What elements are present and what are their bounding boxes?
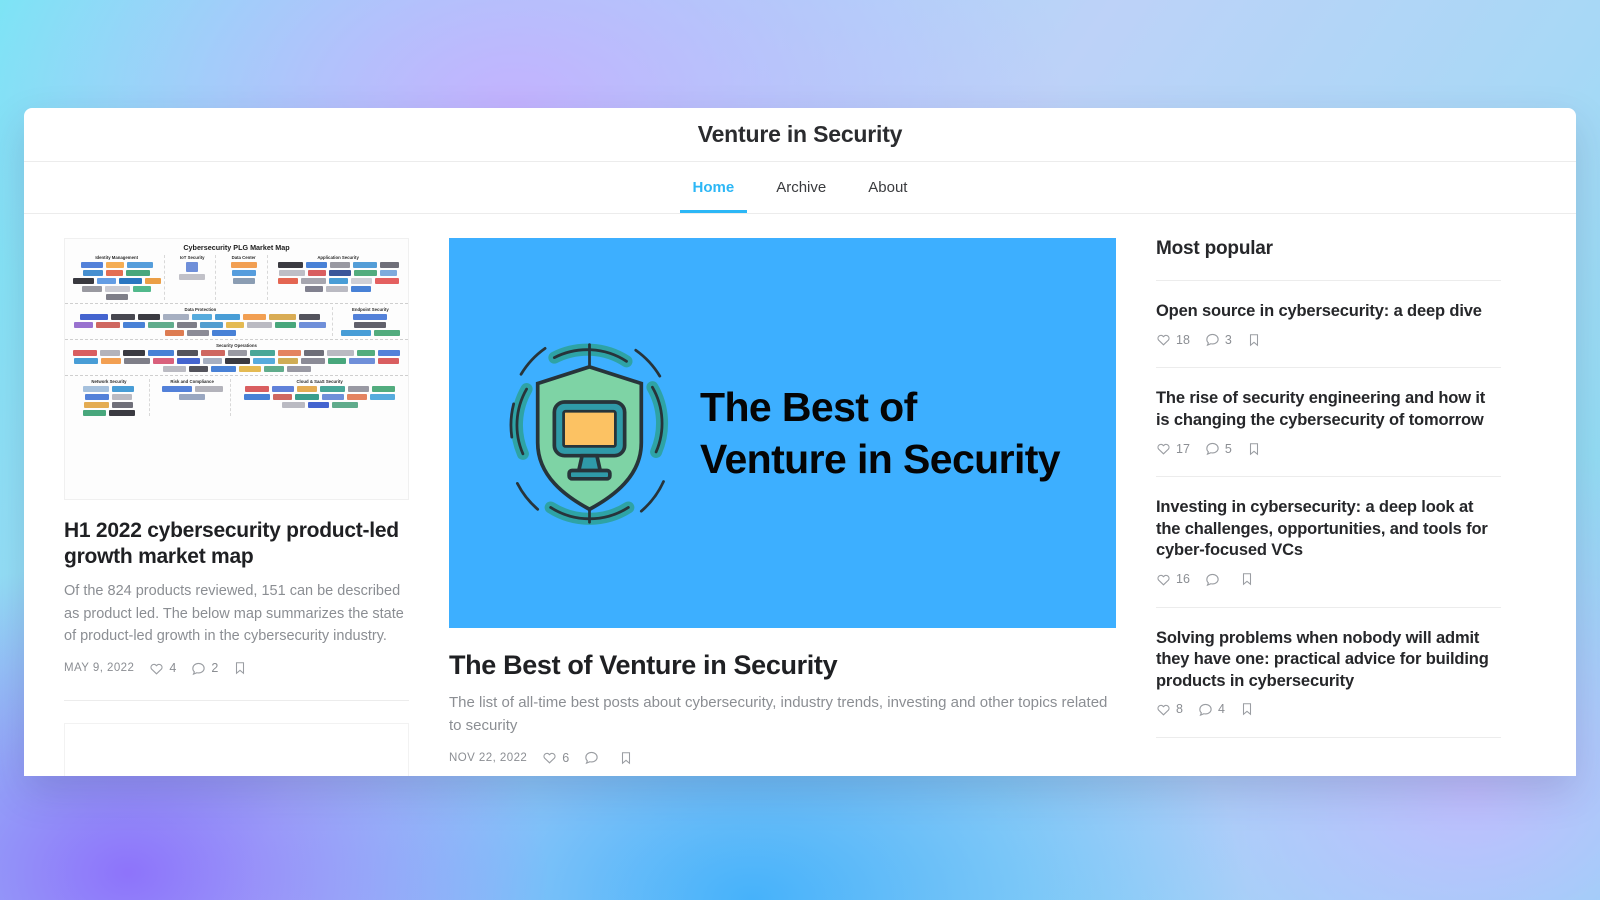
comment-control[interactable]: 2 — [191, 661, 218, 676]
heart-icon — [542, 750, 557, 765]
map-chip-group — [72, 314, 329, 336]
like-count: 16 — [1176, 572, 1190, 586]
map-band-top: Identity Management — [65, 255, 408, 303]
sidebar-post-3[interactable]: Investing in cybersecurity: a deep look … — [1156, 497, 1501, 586]
map-section-network-security: Network Security — [69, 379, 150, 416]
monitor-base — [569, 470, 610, 478]
like-count: 18 — [1176, 333, 1190, 347]
left-article-date: MAY 9, 2022 — [64, 662, 134, 674]
map-section-application-security: Application Security — [272, 255, 404, 300]
main-column: The Best of Venture in Security The Best… — [449, 238, 1116, 775]
map-section-label: Security Operations — [69, 343, 404, 348]
map-section-label: Application Security — [275, 255, 401, 260]
map-band-security-operations: Security Operations — [65, 339, 408, 375]
left-article-title[interactable]: H1 2022 cybersecurity product-led growth… — [64, 518, 409, 569]
nav-item-about[interactable]: About — [855, 162, 920, 213]
main-article-title[interactable]: The Best of Venture in Security — [449, 650, 1116, 681]
heart-icon — [1156, 572, 1171, 587]
map-section-data-protection: Data Protection — [69, 307, 333, 336]
map-section-label: Data Center — [223, 255, 264, 260]
heart-icon — [1156, 441, 1171, 456]
map-section-label: Data Protection — [72, 307, 329, 312]
sidebar-post-title[interactable]: Solving problems when nobody will admit … — [1156, 628, 1501, 692]
map-chip-group — [72, 386, 146, 416]
second-article-thumbnail[interactable]: Vendors leading the new approach to cybe… — [64, 723, 409, 776]
sidebar-divider — [1156, 737, 1501, 738]
map-chip-group — [157, 386, 227, 400]
left-article-subtitle: Of the 824 products reviewed, 151 can be… — [64, 580, 409, 647]
sidebar-divider — [1156, 367, 1501, 368]
nav-item-archive-label: Archive — [776, 179, 826, 196]
left-article-meta: MAY 9, 2022 4 2 — [64, 661, 409, 676]
monitor-screen — [564, 411, 616, 446]
sidebar-most-popular: Most popular Open source in cybersecurit… — [1156, 238, 1501, 775]
map-chip-group — [172, 262, 212, 280]
map-section-label: Network Security — [72, 379, 146, 384]
sidebar-post-meta: 17 5 — [1156, 441, 1501, 456]
like-count: 6 — [562, 751, 569, 765]
comment-icon — [1205, 332, 1220, 347]
left-column: Cybersecurity PLG Market Map Identity Ma… — [64, 238, 409, 775]
content-area: Cybersecurity PLG Market Map Identity Ma… — [24, 214, 1576, 775]
comment-control[interactable]: 3 — [1205, 332, 1232, 347]
hero-text: The Best of Venture in Security — [700, 381, 1060, 486]
map-section-cloud-saas-security: Cloud & SaaS Security — [235, 379, 404, 416]
comment-count: 3 — [1225, 333, 1232, 347]
comment-icon — [584, 750, 599, 765]
hero-image[interactable]: The Best of Venture in Security — [449, 238, 1116, 628]
nav-item-archive[interactable]: Archive — [763, 162, 839, 213]
like-count: 17 — [1176, 442, 1190, 456]
comment-control[interactable] — [584, 750, 604, 765]
map-section-label: Risk and Compliance — [157, 379, 227, 384]
sidebar-divider — [1156, 607, 1501, 608]
comment-count: 2 — [211, 661, 218, 675]
comment-icon — [1205, 441, 1220, 456]
main-article-subtitle: The list of all-time best posts about cy… — [449, 692, 1116, 737]
bookmark-control[interactable] — [619, 751, 633, 765]
main-article-meta: NOV 22, 2022 6 — [449, 750, 1116, 765]
sidebar-heading: Most popular — [1156, 238, 1501, 260]
map-section-iot-security: IoT Security — [169, 255, 216, 300]
comment-control[interactable] — [1205, 572, 1225, 587]
like-control[interactable]: 16 — [1156, 572, 1190, 587]
sidebar-post-2[interactable]: The rise of security engineering and how… — [1156, 388, 1501, 456]
sidebar-post-meta: 18 3 — [1156, 332, 1501, 347]
sidebar-divider — [1156, 476, 1501, 477]
hero-line-2: Venture in Security — [700, 433, 1060, 485]
market-map-thumbnail[interactable]: Cybersecurity PLG Market Map Identity Ma… — [64, 238, 409, 500]
comment-icon — [191, 661, 206, 676]
nav-item-about-label: About — [868, 179, 907, 196]
comment-icon — [1205, 572, 1220, 587]
market-map-title: Cybersecurity PLG Market Map — [65, 239, 408, 255]
comment-count: 5 — [1225, 442, 1232, 456]
like-count: 8 — [1176, 702, 1183, 716]
sidebar-post-title[interactable]: Open source in cybersecurity: a deep div… — [1156, 301, 1501, 322]
primary-nav: Home Archive About — [24, 162, 1576, 214]
sidebar-post-meta: 16 — [1156, 572, 1501, 587]
comment-control[interactable]: 4 — [1198, 702, 1225, 717]
bookmark-control[interactable] — [1247, 333, 1261, 347]
map-section-risk-and-compliance: Risk and Compliance — [154, 379, 231, 416]
map-band-bottom: Network Security Risk and Compliance — [65, 375, 408, 419]
map-chip-group — [340, 314, 401, 336]
map-chip-group — [69, 350, 404, 372]
like-control[interactable]: 8 — [1156, 702, 1183, 717]
map-section-label: Cloud & SaaS Security — [238, 379, 401, 384]
heart-icon — [1156, 332, 1171, 347]
bookmark-icon — [233, 661, 247, 675]
heart-icon — [149, 661, 164, 676]
map-section-label: Endpoint Security — [340, 307, 401, 312]
heart-icon — [1156, 702, 1171, 717]
map-chip-group — [275, 262, 401, 292]
main-article-date: NOV 22, 2022 — [449, 752, 527, 764]
sidebar-post-4[interactable]: Solving problems when nobody will admit … — [1156, 628, 1501, 717]
sidebar-post-title[interactable]: Investing in cybersecurity: a deep look … — [1156, 497, 1501, 561]
map-chip-group — [223, 262, 264, 284]
like-control[interactable]: 18 — [1156, 332, 1190, 347]
like-control[interactable]: 6 — [542, 750, 569, 765]
bookmark-icon — [1240, 572, 1254, 586]
map-section-label: Identity Management — [72, 255, 161, 260]
map-section-data-center: Data Center — [220, 255, 268, 300]
map-chip-group — [238, 386, 401, 408]
sidebar-post-meta: 8 4 — [1156, 702, 1501, 717]
left-column-divider — [64, 700, 409, 701]
like-control[interactable]: 17 — [1156, 441, 1190, 456]
map-section-endpoint-security: Endpoint Security — [337, 307, 404, 336]
bookmark-control[interactable] — [233, 661, 247, 675]
nav-item-home[interactable]: Home — [680, 162, 748, 213]
map-section-identity-management: Identity Management — [69, 255, 165, 300]
bookmark-icon — [1247, 442, 1261, 456]
bookmark-control[interactable] — [1240, 702, 1254, 716]
like-control[interactable]: 4 — [149, 661, 176, 676]
shield-monitor-illustration — [497, 333, 682, 533]
bookmark-control[interactable] — [1247, 442, 1261, 456]
bookmark-icon — [1247, 333, 1261, 347]
sidebar-post-1[interactable]: Open source in cybersecurity: a deep div… — [1156, 301, 1501, 347]
bookmark-icon — [619, 751, 633, 765]
map-band-data-protection: Data Protection — [65, 303, 408, 339]
site-title: Venture in Security — [698, 121, 903, 148]
map-section-label: IoT Security — [172, 255, 212, 260]
site-card: Venture in Security Home Archive About C… — [24, 108, 1576, 776]
comment-icon — [1198, 702, 1213, 717]
like-count: 4 — [169, 661, 176, 675]
masthead: Venture in Security — [24, 108, 1576, 162]
sidebar-divider — [1156, 280, 1501, 281]
bookmark-icon — [1240, 702, 1254, 716]
bookmark-control[interactable] — [1240, 572, 1254, 586]
comment-control[interactable]: 5 — [1205, 441, 1232, 456]
map-chip-group — [72, 262, 161, 300]
hero-line-1: The Best of — [700, 381, 1060, 433]
nav-item-home-label: Home — [693, 179, 735, 196]
sidebar-post-title[interactable]: The rise of security engineering and how… — [1156, 388, 1501, 431]
comment-count: 4 — [1218, 702, 1225, 716]
